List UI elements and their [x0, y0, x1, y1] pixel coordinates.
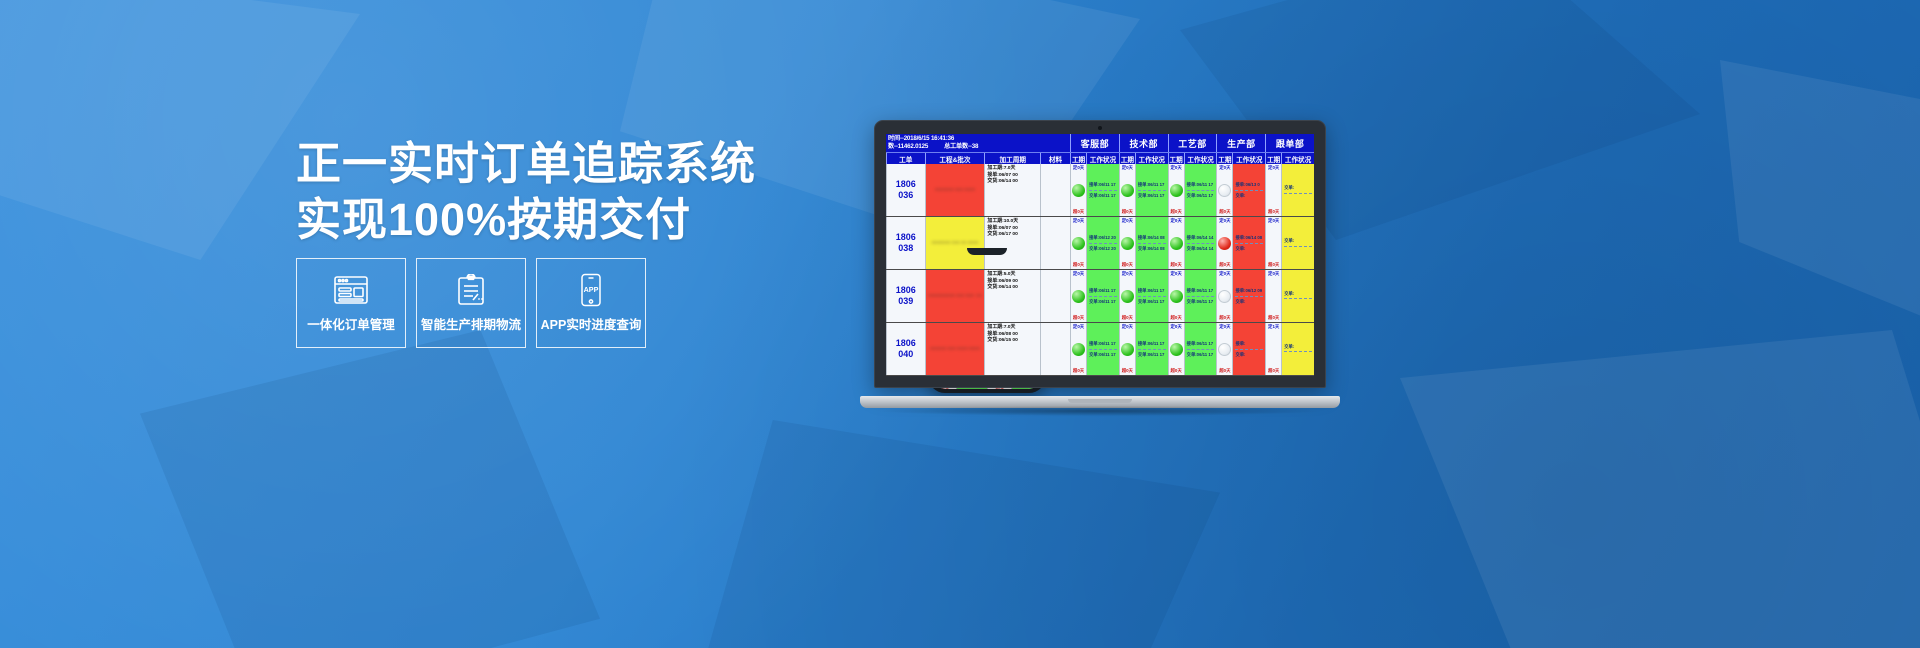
- status-received: 接单:06/11 17: [1138, 288, 1166, 294]
- work-status-cell-5[interactable]: 交单:: [1281, 164, 1314, 216]
- status-indicator-white[interactable]: [1218, 343, 1231, 356]
- column-header-base-1[interactable]: 工单: [886, 153, 925, 164]
- department-header-row: 客服部技术部工艺部生产部跟单部: [1070, 134, 1314, 152]
- laptop-lid: 时间--2018/6/15 16:41:36 数--11462.0125总工单数…: [874, 120, 1326, 388]
- duration-cell-4[interactable]: 定0天超0天: [1216, 164, 1232, 216]
- status-received: 接单:06/11 17: [1089, 182, 1117, 188]
- status-indicator-green[interactable]: [1121, 237, 1134, 250]
- planned-days-tag: 定1天: [1268, 324, 1279, 330]
- processing-cycle-cell[interactable]: 加工期:7.0天接单:06/07 00交货:06/14 00: [984, 164, 1040, 216]
- duration-cell-4[interactable]: 定0天超0天: [1216, 323, 1232, 375]
- status-delivered: 交单:06/11 17: [1089, 299, 1117, 305]
- status-delivered: 交单:06/11 17: [1187, 193, 1215, 199]
- status-delivered: 交单:: [1235, 299, 1263, 305]
- duration-cell-3[interactable]: 定0天超0天: [1168, 217, 1184, 269]
- table-row[interactable]: 1806036××××××× ××× ××××加工期:7.0天接单:06/07 …: [886, 164, 1314, 217]
- work-status-cell-5[interactable]: 交单:: [1281, 270, 1314, 322]
- planned-days-tag: 定0天: [1219, 165, 1230, 171]
- status-indicator-red[interactable]: [1218, 237, 1231, 250]
- status-indicator-white[interactable]: [1218, 184, 1231, 197]
- column-header-base-2[interactable]: 工程&批次: [925, 153, 985, 164]
- planned-days-tag: 定0天: [1122, 165, 1133, 171]
- status-delivered: 交单:06/11 17: [1187, 352, 1215, 358]
- status-divider: [1235, 349, 1263, 350]
- status-divider: [1138, 296, 1166, 297]
- duration-cell-2[interactable]: 定0天超0天: [1119, 164, 1135, 216]
- department-header-1[interactable]: 客服部: [1070, 134, 1119, 152]
- planned-days-tag: 定0天: [1170, 218, 1181, 224]
- work-status-cell-4[interactable]: 接单:06/12 09交单:: [1232, 270, 1265, 322]
- status-divider: [1187, 190, 1215, 191]
- status-divider: [1235, 190, 1263, 191]
- work-status-cell-3[interactable]: 接单:06/11 17交单:06/11 17: [1184, 270, 1217, 322]
- board-total: 总工单数--38: [944, 143, 978, 150]
- duration-cell-5[interactable]: 定0天超0天: [1265, 164, 1281, 216]
- status-delivered: 交单:06/11 17: [1138, 299, 1166, 305]
- column-header-2-status[interactable]: 工作状况: [1135, 153, 1168, 164]
- duration-cell-3[interactable]: 定0天超0天: [1168, 164, 1184, 216]
- work-order-suffix: 039: [898, 296, 913, 307]
- work-order-suffix: 036: [898, 190, 913, 201]
- material-cell[interactable]: [1040, 164, 1070, 216]
- work-status-cell-1[interactable]: 接单:06/11 17交单:06/11 17: [1086, 164, 1119, 216]
- project-batch-cell[interactable]: ××××××× ××× ×× ××××: [925, 217, 985, 269]
- work-status-cell-2[interactable]: 接单:06/11 17交单:06/11 17: [1135, 323, 1168, 375]
- status-received: 接单:06/14 14: [1187, 235, 1215, 241]
- cycle-line-3: 交货:06/17 00: [987, 232, 1039, 238]
- status-received: 接单:06/11 17: [1187, 288, 1215, 294]
- planned-days-tag: 定0天: [1170, 324, 1181, 330]
- work-status-cell-3[interactable]: 接单:06/11 17交单:06/11 17: [1184, 164, 1217, 216]
- work-order-cell[interactable]: 1806038: [886, 217, 925, 269]
- planned-days-tag: 定0天: [1122, 324, 1133, 330]
- duration-cell-1[interactable]: 定0天超0天: [1070, 323, 1086, 375]
- duration-cell-3[interactable]: 定0天超0天: [1168, 270, 1184, 322]
- status-delivered: 交单:06/11 17: [1138, 352, 1166, 358]
- work-order-prefix: 1806: [896, 285, 916, 296]
- laptop-mockup: 时间--2018/6/15 16:41:36 数--11462.0125总工单数…: [860, 120, 1340, 420]
- work-status-cell-3[interactable]: 接单:06/11 17交单:06/11 17: [1184, 323, 1217, 375]
- status-received: 接单:: [1235, 341, 1263, 347]
- planned-days-tag: 定0天: [1122, 271, 1133, 277]
- status-received: 接单:06/12 09: [1235, 288, 1263, 294]
- duration-cell-2[interactable]: 定0天超0天: [1119, 270, 1135, 322]
- status-divider: [1187, 243, 1215, 244]
- status-delivered: 交单:06/11 17: [1187, 299, 1215, 305]
- department-header-2[interactable]: 技术部: [1119, 134, 1168, 152]
- planned-days-tag: 定0天: [1073, 324, 1084, 330]
- status-divider: [1089, 296, 1117, 297]
- overdue-days-tag: 超0天: [1073, 262, 1084, 268]
- column-header-1-duration[interactable]: 工期: [1070, 153, 1086, 164]
- work-order-cell[interactable]: 1806036: [886, 164, 925, 216]
- overdue-days-tag: 超0天: [1170, 209, 1181, 215]
- planned-days-tag: 定0天: [1073, 271, 1084, 277]
- duration-cell-1[interactable]: 定0天超0天: [1070, 164, 1086, 216]
- status-indicator-green[interactable]: [1072, 290, 1085, 303]
- status-divider: [1138, 349, 1166, 350]
- status-received: 接单:06/11 17: [1138, 182, 1166, 188]
- status-received: 接单:06/11 17: [1089, 288, 1117, 294]
- column-header-5-status[interactable]: 工作状况: [1281, 153, 1314, 164]
- status-delivered: 交单:06/14 14: [1187, 246, 1215, 252]
- overdue-days-tag: 超0天: [1268, 315, 1279, 321]
- planned-days-tag: 定0天: [1122, 218, 1133, 224]
- duration-cell-5[interactable]: 定0天超0天: [1265, 217, 1281, 269]
- planned-days-tag: 定0天: [1219, 324, 1230, 330]
- status-divider: [1187, 349, 1215, 350]
- planned-days-tag: 定0天: [1073, 165, 1084, 171]
- erp-board: 时间--2018/6/15 16:41:36 数--11462.0125总工单数…: [886, 134, 1314, 376]
- duration-cell-1[interactable]: 定0天超0天: [1070, 270, 1086, 322]
- cycle-line-3: 交货:06/14 00: [987, 179, 1039, 185]
- overdue-days-tag: 超0天: [1268, 368, 1279, 374]
- column-header-base-4[interactable]: 材料: [1040, 153, 1070, 164]
- overdue-days-tag: 超0天: [1122, 262, 1133, 268]
- column-header-5-duration[interactable]: 工期: [1265, 153, 1281, 164]
- status-indicator-green[interactable]: [1121, 290, 1134, 303]
- project-batch-cell[interactable]: ×××××××××× ××× ×××· ××: [925, 270, 985, 322]
- status-divider: [1138, 190, 1166, 191]
- laptop-screen[interactable]: 时间--2018/6/15 16:41:36 数--11462.0125总工单数…: [886, 134, 1314, 376]
- processing-cycle-cell[interactable]: 加工期:5.0天接单:06/09 00交货:06/14 00: [984, 270, 1040, 322]
- board-time: 时间--2018/6/15 16:41:36: [888, 135, 1068, 143]
- project-batch-cell[interactable]: ××××××× ××× ××××: [925, 164, 985, 216]
- processing-cycle-cell[interactable]: 加工期:7.0天接单:06/08 00交货:06/15 00: [984, 323, 1040, 375]
- status-delivered: 交单:06/11 17: [1138, 193, 1166, 199]
- status-received: 交单:: [1284, 291, 1312, 297]
- status-divider: [1284, 193, 1312, 194]
- column-header-4-duration[interactable]: 工期: [1216, 153, 1232, 164]
- work-order-cell[interactable]: 1806040: [886, 323, 925, 375]
- planned-days-tag: 定0天: [1219, 271, 1230, 277]
- project-batch-cell[interactable]: ×××××× ××× ××××·××××: [925, 323, 985, 375]
- status-delivered: 交单:06/14 08: [1138, 246, 1166, 252]
- work-status-cell-2[interactable]: 接单:06/11 17交单:06/11 17: [1135, 164, 1168, 216]
- status-received: 交单:: [1284, 185, 1312, 191]
- overdue-days-tag: 超0天: [1122, 315, 1133, 321]
- duration-cell-1[interactable]: 定0天超0天: [1070, 217, 1086, 269]
- status-divider: [1284, 298, 1312, 299]
- board-code-total: 数--11462.0125总工单数--38: [888, 143, 1068, 151]
- table-row[interactable]: 1806039×××××××××× ××× ×××· ××加工期:5.0天接单:…: [886, 270, 1314, 323]
- status-received: 交单:: [1284, 344, 1312, 350]
- status-received: 接单:06/11 17: [1187, 341, 1215, 347]
- overdue-days-tag: 超0天: [1073, 209, 1084, 215]
- overdue-days-tag: 超0天: [1219, 315, 1230, 321]
- overdue-days-tag: 超0天: [1170, 262, 1181, 268]
- overdue-days-tag: 超0天: [1073, 315, 1084, 321]
- status-divider: [1235, 243, 1263, 244]
- work-order-prefix: 1806: [896, 232, 916, 243]
- status-received: 接单:06/11 17: [1187, 182, 1215, 188]
- planned-days-tag: 定0天: [1268, 165, 1279, 171]
- status-delivered: 交单:06/11 17: [1089, 193, 1117, 199]
- work-status-cell-2[interactable]: 接单:06/11 17交单:06/11 17: [1135, 270, 1168, 322]
- work-status-cell-1[interactable]: 接单:06/11 17交单:06/11 17: [1086, 270, 1119, 322]
- work-order-prefix: 1806: [896, 338, 916, 349]
- status-indicator-green[interactable]: [1072, 184, 1085, 197]
- work-status-cell-4[interactable]: 接单:06/13 0交单:: [1232, 164, 1265, 216]
- status-divider: [1089, 190, 1117, 191]
- overdue-days-tag: 超0天: [1122, 209, 1133, 215]
- duration-cell-2[interactable]: 定0天超0天: [1119, 323, 1135, 375]
- planned-days-tag: 定0天: [1170, 165, 1181, 171]
- marketing-banner: 正一实时订单追踪系统 实现100%按期交付 一体化订单管理: [0, 0, 1920, 648]
- status-indicator-green[interactable]: [1170, 237, 1183, 250]
- duration-cell-3[interactable]: 定0天超0天: [1168, 323, 1184, 375]
- project-batch-text: ××××××× ××× ××××: [935, 187, 975, 193]
- laptop-base-notch: [1068, 399, 1132, 403]
- material-cell[interactable]: [1040, 217, 1070, 269]
- column-header-2-duration[interactable]: 工期: [1119, 153, 1135, 164]
- column-header-row: 工单工程&批次加工周期材料工期工作状况工期工作状况工期工作状况工期工作状况工期工…: [886, 152, 1314, 164]
- project-batch-text: ×××××××××× ××× ×××· ××: [928, 293, 982, 299]
- column-header-3-status[interactable]: 工作状况: [1184, 153, 1217, 164]
- status-indicator-green[interactable]: [1121, 343, 1134, 356]
- duration-cell-2[interactable]: 定0天超0天: [1119, 217, 1135, 269]
- column-header-base-3[interactable]: 加工周期: [984, 153, 1040, 164]
- board-rows: 1806036××××××× ××× ××××加工期:7.0天接单:06/07 …: [886, 164, 1314, 376]
- work-status-cell-4[interactable]: 接单:交单:: [1232, 323, 1265, 375]
- status-delivered: 交单:06/12 20: [1089, 246, 1117, 252]
- status-indicator-green[interactable]: [1170, 184, 1183, 197]
- work-status-cell-5[interactable]: 交单:: [1281, 217, 1314, 269]
- work-status-cell-4[interactable]: 接单:06/14 08交单:: [1232, 217, 1265, 269]
- duration-cell-5[interactable]: 定1天超0天: [1265, 323, 1281, 375]
- work-order-cell[interactable]: 1806039: [886, 270, 925, 322]
- status-delivered: 交单:06/11 17: [1089, 352, 1117, 358]
- status-received: 接单:06/11 17: [1138, 341, 1166, 347]
- overdue-days-tag: 超0天: [1219, 262, 1230, 268]
- status-delivered: 交单:: [1235, 193, 1263, 199]
- planned-days-tag: 定0天: [1170, 271, 1181, 277]
- device-mockups: 客服部技术部 工期工作状况工期工作状况 定0天超0天接单:06/11 17交单:…: [0, 0, 1920, 648]
- status-divider: [1284, 246, 1312, 247]
- overdue-days-tag: 超0天: [1170, 368, 1181, 374]
- work-status-cell-5[interactable]: 交单:: [1281, 323, 1314, 375]
- work-status-cell-1[interactable]: 接单:06/11 17交单:06/11 17: [1086, 323, 1119, 375]
- work-status-cell-1[interactable]: 接单:06/12 20交单:06/12 20: [1086, 217, 1119, 269]
- status-indicator-green[interactable]: [1170, 343, 1183, 356]
- status-indicator-green[interactable]: [1072, 343, 1085, 356]
- status-indicator-green[interactable]: [1121, 184, 1134, 197]
- project-batch-text: ×××××× ××× ××××·××××: [930, 346, 980, 352]
- work-status-cell-2[interactable]: 接单:06/14 08交单:06/14 08: [1135, 217, 1168, 269]
- status-received: 接单:06/14 08: [1138, 235, 1166, 241]
- status-divider: [1284, 351, 1312, 352]
- board-code: 数--11462.0125: [888, 143, 928, 150]
- department-header-3[interactable]: 工艺部: [1168, 134, 1217, 152]
- processing-cycle-cell[interactable]: 加工期:10.0天接单:06/07 00交货:06/17 00: [984, 217, 1040, 269]
- column-header-4-status[interactable]: 工作状况: [1232, 153, 1265, 164]
- overdue-days-tag: 超0天: [1219, 368, 1230, 374]
- work-status-cell-3[interactable]: 接单:06/14 14交单:06/14 14: [1184, 217, 1217, 269]
- department-header-4[interactable]: 生产部: [1216, 134, 1265, 152]
- status-divider: [1235, 296, 1263, 297]
- duration-cell-5[interactable]: 定0天超0天: [1265, 270, 1281, 322]
- status-indicator-green[interactable]: [1072, 237, 1085, 250]
- status-divider: [1138, 243, 1166, 244]
- overdue-days-tag: 超0天: [1268, 209, 1279, 215]
- phone-notch: [967, 248, 1007, 255]
- status-indicator-white[interactable]: [1218, 290, 1231, 303]
- overdue-days-tag: 超0天: [1122, 368, 1133, 374]
- work-order-suffix: 040: [898, 349, 913, 360]
- duration-cell-4[interactable]: 定0天超0天: [1216, 217, 1232, 269]
- planned-days-tag: 定0天: [1268, 218, 1279, 224]
- table-row[interactable]: 1806040×××××× ××× ××××·××××加工期:7.0天接单:06…: [886, 323, 1314, 376]
- board-header-info: 时间--2018/6/15 16:41:36 数--11462.0125总工单数…: [886, 134, 1070, 152]
- overdue-days-tag: 超0天: [1073, 368, 1084, 374]
- status-received: 接单:06/12 20: [1089, 235, 1117, 241]
- overdue-days-tag: 超0天: [1268, 262, 1279, 268]
- cycle-line-3: 交货:06/15 00: [987, 338, 1039, 344]
- status-divider: [1187, 296, 1215, 297]
- duration-cell-4[interactable]: 定0天超0天: [1216, 270, 1232, 322]
- status-received: 接单:06/11 17: [1089, 341, 1117, 347]
- material-cell[interactable]: [1040, 270, 1070, 322]
- overdue-days-tag: 超0天: [1219, 209, 1230, 215]
- overdue-days-tag: 超0天: [1170, 315, 1181, 321]
- column-header-1-status[interactable]: 工作状况: [1086, 153, 1119, 164]
- material-cell[interactable]: [1040, 323, 1070, 375]
- work-order-suffix: 038: [898, 243, 913, 254]
- planned-days-tag: 定0天: [1268, 271, 1279, 277]
- status-divider: [1089, 243, 1117, 244]
- status-received: 接单:06/13 0: [1235, 182, 1263, 188]
- status-delivered: 交单:: [1235, 352, 1263, 358]
- board-header: 时间--2018/6/15 16:41:36 数--11462.0125总工单数…: [886, 134, 1314, 152]
- project-batch-text: ××××××× ××× ×× ××××: [932, 240, 979, 246]
- status-indicator-green[interactable]: [1170, 290, 1183, 303]
- status-divider: [1089, 349, 1117, 350]
- work-order-prefix: 1806: [896, 179, 916, 190]
- table-row[interactable]: 1806038××××××× ××× ×× ××××加工期:10.0天接单:06…: [886, 217, 1314, 270]
- planned-days-tag: 定0天: [1073, 218, 1084, 224]
- column-header-3-duration[interactable]: 工期: [1168, 153, 1184, 164]
- status-received: 交单:: [1284, 238, 1312, 244]
- cycle-line-3: 交货:06/14 00: [987, 285, 1039, 291]
- planned-days-tag: 定0天: [1219, 218, 1230, 224]
- status-delivered: 交单:: [1235, 246, 1263, 252]
- status-received: 接单:06/14 08: [1235, 235, 1263, 241]
- webcam-icon: [1098, 126, 1102, 130]
- department-header-5[interactable]: 跟单部: [1265, 134, 1314, 152]
- laptop-shadow: [884, 406, 1316, 416]
